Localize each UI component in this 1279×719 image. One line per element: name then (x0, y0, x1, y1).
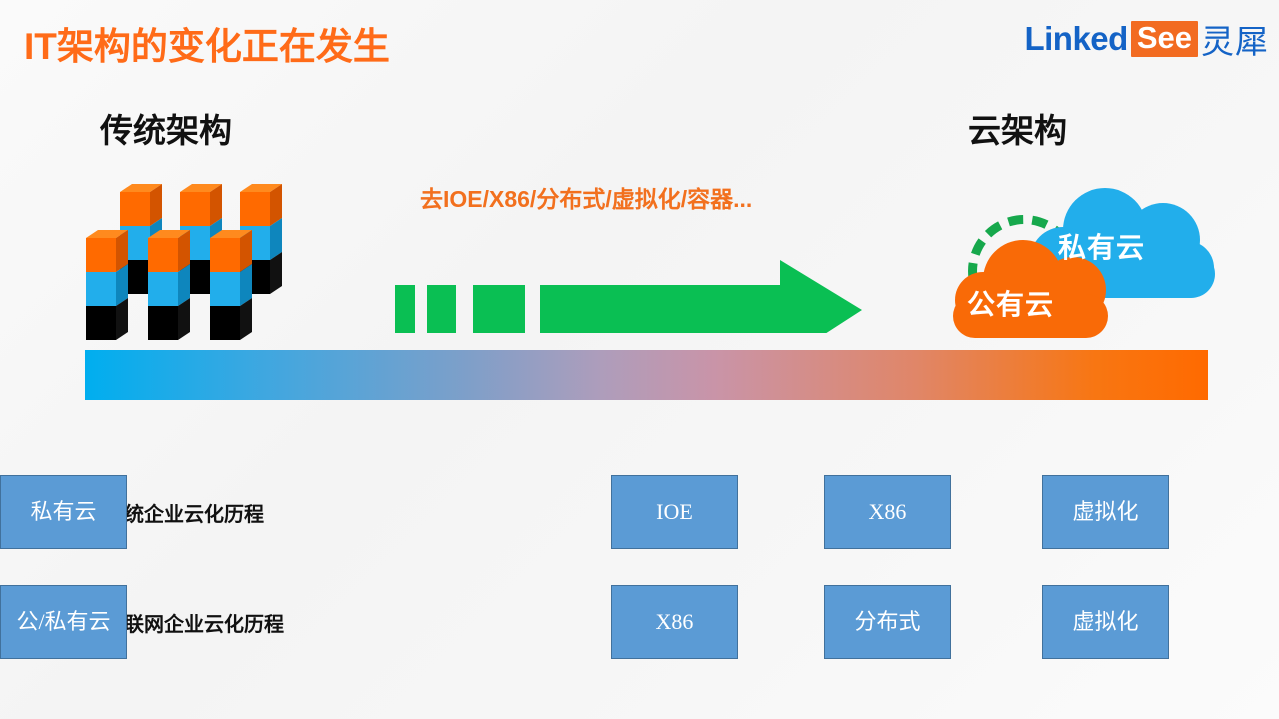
cloud-group: 私有云 公有云 (925, 168, 1225, 348)
journey-label: 互联网企业云化历程 (104, 608, 284, 637)
journey-stage-box[interactable]: X86 (824, 475, 951, 549)
journey-stage-label: X86 (656, 611, 694, 633)
logo-word-linked: Linked (1024, 20, 1127, 58)
slide-canvas: IT架构的变化正在发生 Linked See 灵犀 传统架构 云架构 (0, 0, 1279, 719)
private-cloud-label: 私有云 (1058, 226, 1145, 266)
journey-stage-box[interactable]: 虚拟化 (1042, 475, 1169, 549)
journey-stage-box[interactable]: 虚拟化 (1042, 585, 1169, 659)
journey-stage-box[interactable]: 私有云 (0, 475, 127, 549)
journey-stage-label: X86 (869, 501, 907, 523)
heading-traditional-architecture: 传统架构 (100, 104, 232, 152)
transition-group: 去IOE/X86/分布式/虚拟化/容器... (380, 180, 880, 335)
journey-stage-box[interactable]: 分布式 (824, 585, 951, 659)
logo-word-see: See (1131, 21, 1198, 57)
heading-cloud-architecture: 云架构 (968, 104, 1067, 152)
server-rack-icon (72, 176, 312, 344)
journey-label: 传统企业云化历程 (104, 498, 264, 527)
transition-arrow-icon (380, 218, 880, 333)
transition-label: 去IOE/X86/分布式/虚拟化/容器... (420, 180, 752, 214)
journey-stage-label: 虚拟化 (1072, 501, 1138, 523)
journey-stage-label: 私有云 (30, 501, 96, 523)
journey-stage-box[interactable]: IOE (611, 475, 738, 549)
journey-stage-label: IOE (656, 501, 693, 523)
journey-stage-box[interactable]: X86 (611, 585, 738, 659)
journey-stage-box[interactable]: 公/私有云 (0, 585, 127, 659)
architecture-spectrum-bar (85, 350, 1208, 400)
journey-stage-label: 分布式 (854, 611, 920, 633)
journey-stage-label: 公/私有云 (16, 611, 110, 633)
journey-stage-label: 虚拟化 (1072, 611, 1138, 633)
logo-word-chinese: 灵犀 (1201, 15, 1269, 63)
brand-logo: Linked See 灵犀 (1024, 19, 1269, 59)
public-cloud-label: 公有云 (967, 283, 1054, 323)
page-title: IT架构的变化正在发生 (24, 16, 390, 70)
